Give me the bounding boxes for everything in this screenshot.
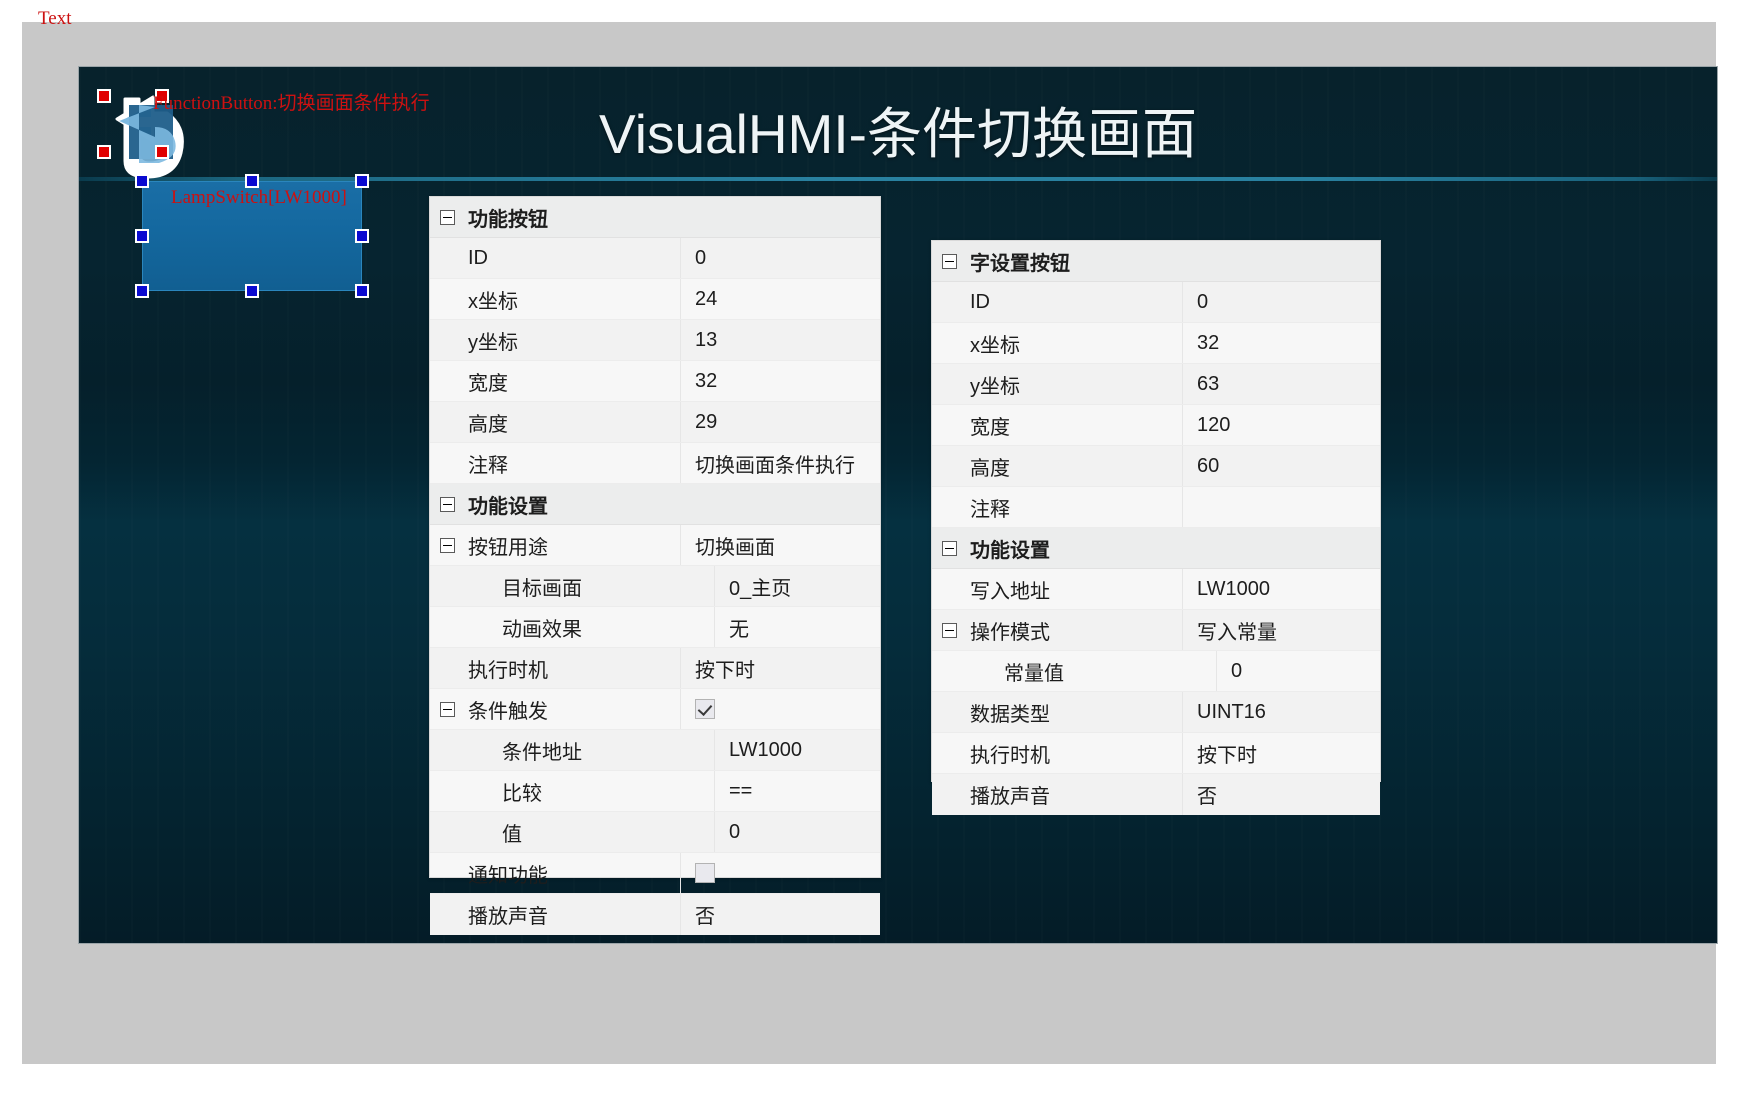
property-row[interactable]: 条件地址LW1000 — [430, 730, 880, 771]
collapse-toggle-icon[interactable] — [932, 623, 966, 638]
property-value[interactable]: 写入常量 — [1183, 616, 1380, 645]
property-row[interactable]: y坐标13 — [430, 320, 880, 361]
property-name: 注释 — [966, 493, 1182, 522]
property-value[interactable] — [681, 698, 880, 721]
property-name: 比较 — [464, 777, 714, 806]
property-name: 目标画面 — [464, 572, 714, 601]
property-name: 播放声音 — [966, 780, 1182, 809]
property-name: 条件触发 — [464, 695, 680, 724]
annotation-lamp-switch: LampSwitch[LW1000] — [171, 188, 347, 207]
property-name: 操作模式 — [966, 616, 1182, 645]
property-row[interactable]: 比较== — [430, 771, 880, 812]
checkbox-icon[interactable] — [695, 699, 715, 719]
property-name: 动画效果 — [464, 613, 714, 642]
property-row[interactable]: 执行时机按下时 — [430, 648, 880, 689]
selection-handle-top-left[interactable] — [97, 89, 111, 103]
lamp-handle-bottom-right[interactable] — [355, 284, 369, 298]
property-row[interactable]: 按钮用途切换画面 — [430, 525, 880, 566]
property-row[interactable]: x坐标32 — [932, 323, 1380, 364]
application-window: VisualHMI-条件切换画面 FunctionButton:切 — [22, 22, 1716, 1064]
selection-handle-bottom-right[interactable] — [155, 145, 169, 159]
selection-handle-bottom-left[interactable] — [97, 145, 111, 159]
property-value[interactable]: 0 — [681, 247, 880, 270]
property-name: 执行时机 — [966, 739, 1182, 768]
property-row[interactable]: 宽度120 — [932, 405, 1380, 446]
property-row[interactable]: ID0 — [932, 282, 1380, 323]
collapse-toggle-icon[interactable] — [932, 541, 966, 556]
property-value[interactable]: LW1000 — [715, 739, 880, 762]
property-name: 功能设置 — [966, 534, 1182, 563]
property-value[interactable]: 0 — [1183, 291, 1380, 314]
property-value[interactable]: 无 — [715, 613, 880, 642]
property-row[interactable]: 宽度32 — [430, 361, 880, 402]
property-name: 字设置按钮 — [966, 247, 1182, 276]
hmi-canvas[interactable]: VisualHMI-条件切换画面 FunctionButton:切 — [78, 66, 1718, 944]
lamp-handle-bottom-left[interactable] — [135, 284, 149, 298]
property-value[interactable]: 63 — [1183, 373, 1380, 396]
property-name: x坐标 — [464, 285, 680, 314]
property-name: 常量值 — [966, 657, 1216, 686]
property-name: 执行时机 — [464, 654, 680, 683]
property-value[interactable]: 按下时 — [1183, 739, 1380, 768]
property-name: 功能设置 — [464, 490, 680, 519]
checkbox-icon[interactable] — [695, 863, 715, 883]
property-name: 值 — [464, 818, 714, 847]
property-row[interactable]: 通知功能 — [430, 853, 880, 894]
collapse-toggle-icon[interactable] — [430, 538, 464, 553]
property-row[interactable]: 数据类型UINT16 — [932, 692, 1380, 733]
property-category-row[interactable]: 功能按钮 — [430, 197, 880, 238]
collapse-toggle-icon[interactable] — [430, 497, 464, 512]
property-value[interactable]: 0 — [1217, 660, 1380, 683]
property-category-row[interactable]: 功能设置 — [932, 528, 1380, 569]
property-row[interactable]: 写入地址LW1000 — [932, 569, 1380, 610]
property-row[interactable]: 动画效果无 — [430, 607, 880, 648]
annotation-text: Text — [38, 9, 72, 28]
property-value[interactable]: 切换画面条件执行 — [681, 449, 880, 478]
annotation-function-button: FunctionButton:切换画面条件执行 — [153, 94, 430, 113]
property-row[interactable]: 目标画面0_主页 — [430, 566, 880, 607]
lamp-handle-middle-left[interactable] — [135, 229, 149, 243]
property-name: ID — [966, 291, 1182, 314]
collapse-toggle-icon[interactable] — [430, 210, 464, 225]
property-panel-function-button[interactable]: 功能按钮ID0x坐标24y坐标13宽度32高度29注释切换画面条件执行功能设置按… — [429, 196, 881, 878]
property-value[interactable]: 0_主页 — [715, 572, 880, 601]
property-row[interactable]: 操作模式写入常量 — [932, 610, 1380, 651]
property-value[interactable]: 13 — [681, 329, 880, 352]
property-value[interactable]: 32 — [681, 370, 880, 393]
property-name: 写入地址 — [966, 575, 1182, 604]
property-name: 播放声音 — [464, 900, 680, 929]
property-name: 数据类型 — [966, 698, 1182, 727]
property-row[interactable]: 播放声音否 — [932, 774, 1380, 815]
property-row[interactable]: y坐标63 — [932, 364, 1380, 405]
property-name: 高度 — [464, 408, 680, 437]
property-row[interactable]: 注释切换画面条件执行 — [430, 443, 880, 484]
property-row[interactable]: 播放声音否 — [430, 894, 880, 935]
property-name: ID — [464, 247, 680, 270]
property-value[interactable]: 60 — [1183, 455, 1380, 478]
property-row[interactable]: 条件触发 — [430, 689, 880, 730]
property-value[interactable]: 按下时 — [681, 654, 880, 683]
property-name: y坐标 — [464, 326, 680, 355]
property-name: 按钮用途 — [464, 531, 680, 560]
property-name: 通知功能 — [464, 859, 680, 888]
property-name: 高度 — [966, 452, 1182, 481]
property-value[interactable] — [681, 862, 880, 885]
property-name: 功能按钮 — [464, 203, 680, 232]
property-row[interactable]: 值0 — [430, 812, 880, 853]
property-row[interactable]: 高度29 — [430, 402, 880, 443]
property-name: 宽度 — [464, 367, 680, 396]
property-row[interactable]: 常量值0 — [932, 651, 1380, 692]
property-category-row[interactable]: 功能设置 — [430, 484, 880, 525]
property-panel-word-set-button[interactable]: 字设置按钮ID0x坐标32y坐标63宽度120高度60注释功能设置写入地址LW1… — [931, 240, 1381, 782]
property-row[interactable]: 执行时机按下时 — [932, 733, 1380, 774]
property-value[interactable]: 0 — [715, 821, 880, 844]
property-name: 宽度 — [966, 411, 1182, 440]
property-value[interactable]: 24 — [681, 288, 880, 311]
property-name: 注释 — [464, 449, 680, 478]
lamp-handle-top-center[interactable] — [245, 174, 259, 188]
collapse-toggle-icon[interactable] — [932, 254, 966, 269]
property-value[interactable]: UINT16 — [1183, 701, 1380, 724]
lamp-handle-top-left[interactable] — [135, 174, 149, 188]
lamp-handle-bottom-center[interactable] — [245, 284, 259, 298]
header-band: VisualHMI-条件切换画面 — [79, 67, 1717, 179]
property-row[interactable]: 注释 — [932, 487, 1380, 528]
property-name: x坐标 — [966, 329, 1182, 358]
property-row[interactable]: 高度60 — [932, 446, 1380, 487]
column-divider — [1182, 487, 1183, 527]
property-value[interactable]: == — [715, 780, 880, 803]
lamp-handle-top-right[interactable] — [355, 174, 369, 188]
property-value[interactable]: 切换画面 — [681, 531, 880, 560]
property-value[interactable]: LW1000 — [1183, 578, 1380, 601]
property-category-row[interactable]: 字设置按钮 — [932, 241, 1380, 282]
property-name: 条件地址 — [464, 736, 714, 765]
collapse-toggle-icon[interactable] — [430, 702, 464, 717]
property-value[interactable]: 29 — [681, 411, 880, 434]
lamp-handle-middle-right[interactable] — [355, 229, 369, 243]
property-value[interactable]: 32 — [1183, 332, 1380, 355]
property-name: y坐标 — [966, 370, 1182, 399]
property-value[interactable]: 120 — [1183, 414, 1380, 437]
property-value[interactable]: 否 — [681, 900, 880, 929]
property-row[interactable]: ID0 — [430, 238, 880, 279]
property-row[interactable]: x坐标24 — [430, 279, 880, 320]
property-value[interactable]: 否 — [1183, 780, 1380, 809]
